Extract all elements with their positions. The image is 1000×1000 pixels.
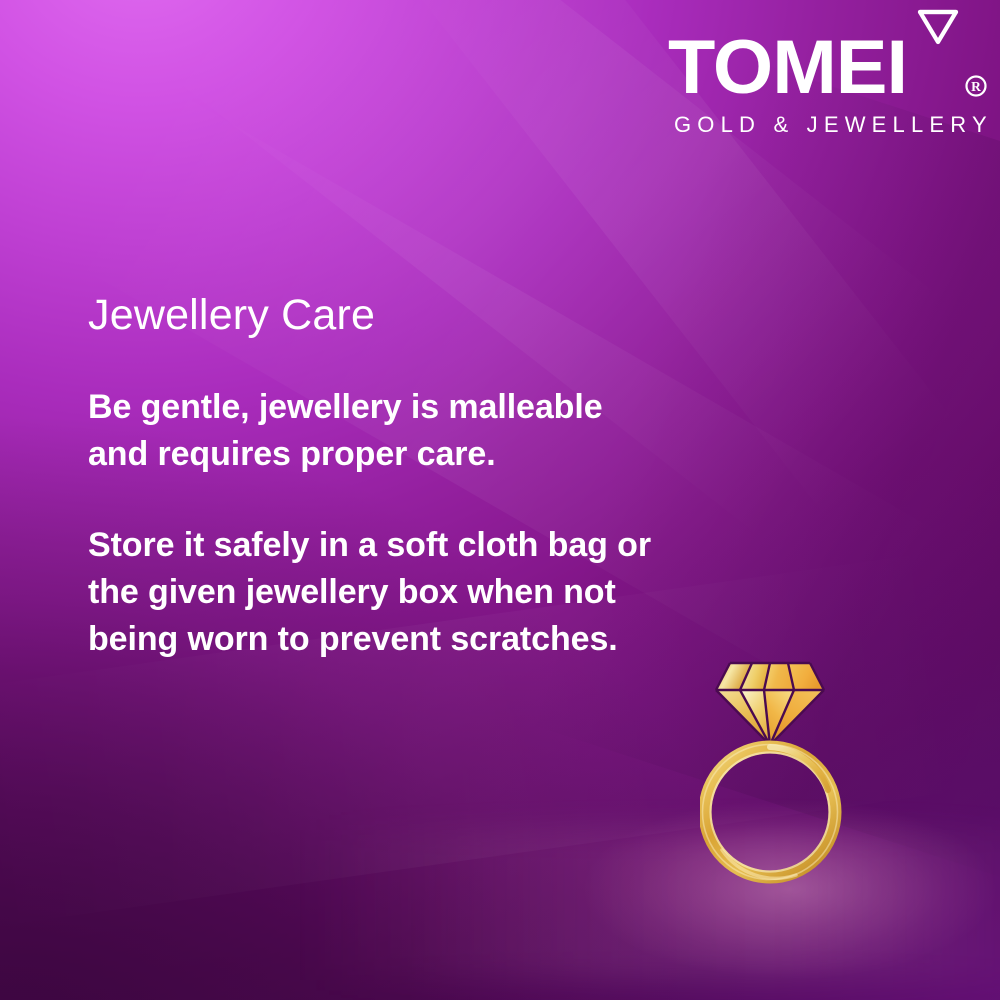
- diamond-gem: [716, 663, 824, 745]
- diamond-outline-icon: [910, 8, 966, 48]
- care-paragraph-1: Be gentle, jewellery is malleable and re…: [88, 384, 668, 478]
- page-title: Jewellery Care: [88, 290, 668, 340]
- poster-canvas: TOMEI R GOLD & JEWELLERY Jewellery Care …: [0, 0, 1000, 1000]
- registered-trademark-icon: R: [964, 74, 988, 98]
- svg-text:R: R: [971, 79, 981, 94]
- brand-wordmark: TOMEI: [668, 30, 907, 106]
- care-copy-block: Jewellery Care Be gentle, jewellery is m…: [88, 290, 668, 663]
- brand-tagline: GOLD & JEWELLERY: [674, 113, 993, 137]
- diamond-ring-illustration: [700, 650, 870, 900]
- gold-band: [703, 745, 838, 880]
- tomei-logo: TOMEI R GOLD & JEWELLERY: [668, 8, 988, 138]
- care-paragraph-2: Store it safely in a soft cloth bag or t…: [88, 522, 668, 663]
